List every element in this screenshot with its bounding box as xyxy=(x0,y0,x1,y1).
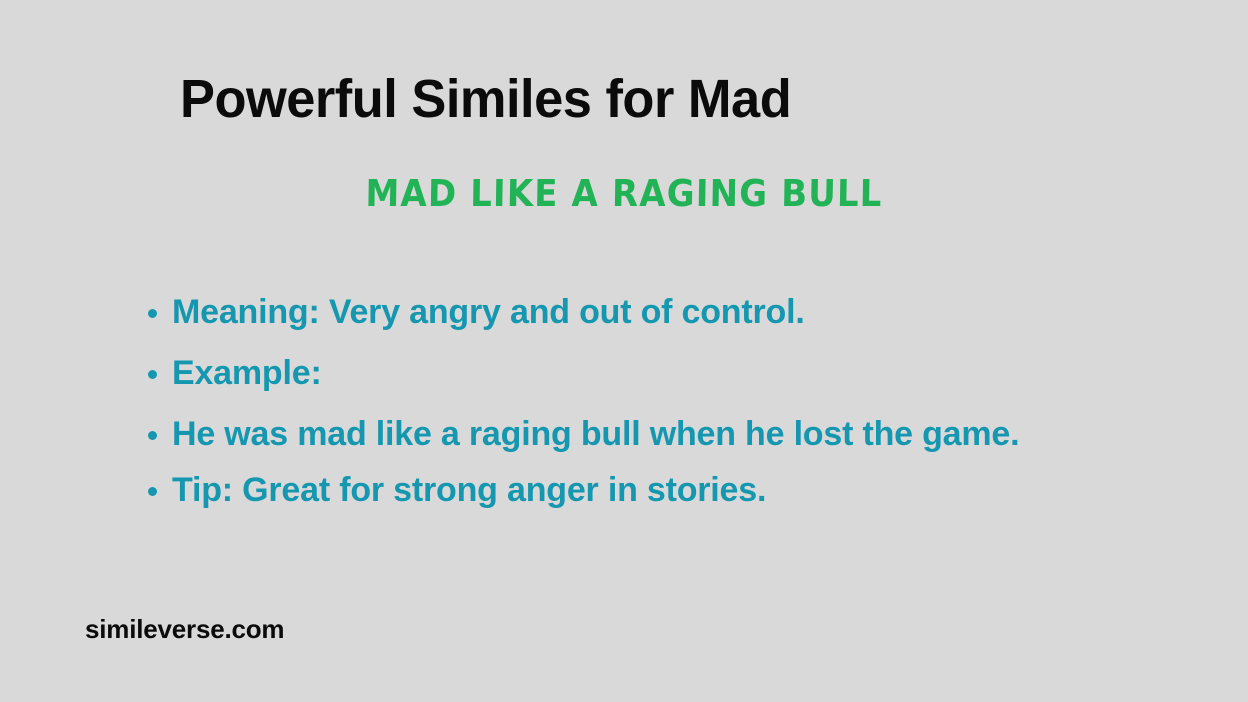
bullet-dot-icon xyxy=(148,370,157,379)
list-item: Meaning: Very angry and out of control. xyxy=(146,286,1248,338)
simile-subtitle: MAD LIKE A RAGING BULL xyxy=(50,171,1199,217)
slide-canvas: Powerful Similes for Mad MAD LIKE A RAGI… xyxy=(0,0,1248,702)
list-item-label: Meaning: Very angry and out of control. xyxy=(172,286,1248,338)
list-item: Tip: Great for strong anger in stories. xyxy=(146,464,1248,516)
list-item-label: Tip: Great for strong anger in stories. xyxy=(172,464,1248,516)
bullet-dot-icon xyxy=(148,309,157,318)
list-item: Example: xyxy=(146,347,1248,399)
bullet-dot-icon xyxy=(148,487,157,496)
list-item-label: He was mad like a raging bull when he lo… xyxy=(172,408,1248,460)
list-item-label: Example: xyxy=(172,347,1248,399)
bullet-dot-icon xyxy=(148,431,157,440)
list-item: He was mad like a raging bull when he lo… xyxy=(146,408,1248,460)
site-watermark: simileverse.com xyxy=(85,612,284,646)
page-title: Powerful Similes for Mad xyxy=(180,68,791,130)
bullet-list: Meaning: Very angry and out of control. … xyxy=(146,286,1248,525)
